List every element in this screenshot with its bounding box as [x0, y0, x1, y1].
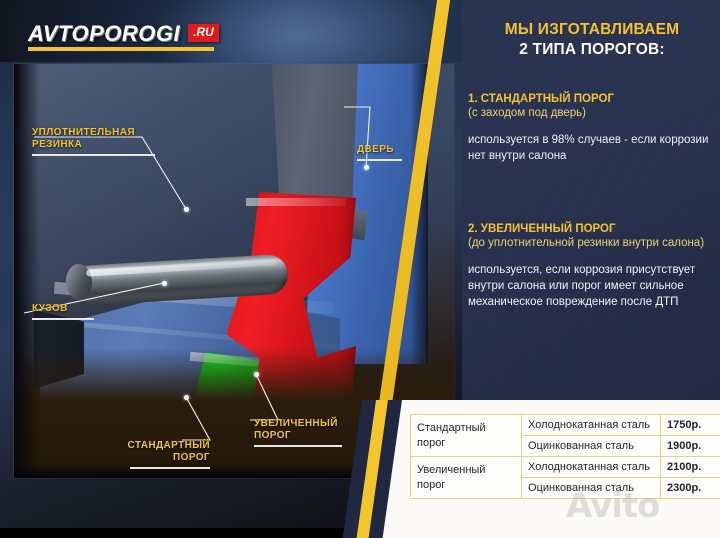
section-enlarged-heading: 2. УВЕЛИЧЕННЫЙ ПОРОГ: [468, 222, 712, 236]
label-door-rule: [357, 159, 402, 161]
label-standard-sill-line1: СТАНДАРТНЫЙ: [128, 440, 211, 451]
label-weather-seal-line2: РЕЗИНКА: [32, 139, 82, 150]
site-logo[interactable]: AVTOPOROGI .RU: [28, 22, 219, 52]
table-cell-material: Холоднокатанная сталь: [522, 415, 661, 436]
door-leader-dot: [364, 165, 369, 170]
label-enlarged-sill-line1: УВЕЛИЧЕННЫЙ: [254, 418, 338, 429]
infographic-poster: УПЛОТНИТЕЛЬНАЯ РЕЗИНКА КУЗОВ ДВЕРЬ СТАНД…: [0, 0, 720, 538]
panel-title: МЫ ИЗГОТАВЛИВАЕМ 2 ТИПА ПОРОГОВ:: [472, 20, 712, 60]
table-cell-price: 1750р.: [661, 415, 720, 436]
text-panel: [462, 0, 720, 400]
price-table: Стандартный порог Холоднокатанная сталь …: [410, 414, 720, 499]
table-cell-price: 2100р.: [661, 457, 720, 478]
price-table-zone: Стандартный порог Холоднокатанная сталь …: [380, 400, 720, 538]
table-cell-material: Оцинкованная сталь: [522, 436, 661, 457]
section-standard-heading: 1. СТАНДАРТНЫЙ ПОРОГ: [468, 92, 712, 106]
section-enlarged-subheading: (до уплотнительной резинки внутри салона…: [468, 236, 712, 250]
standard-leader-dot: [184, 395, 189, 400]
label-standard-sill: СТАНДАРТНЫЙ ПОРОГ: [76, 440, 210, 469]
label-enlarged-sill-rule: [254, 445, 342, 447]
table-cell-category: Стандартный порог: [411, 415, 522, 457]
logo-word-text: AVTOPOROGI: [28, 21, 180, 46]
section-standard-subheading: (с заходом под дверь): [468, 106, 712, 120]
section-enlarged: 2. УВЕЛИЧЕННЫЙ ПОРОГ (до уплотнительной …: [468, 222, 712, 310]
section-standard-body: используется в 98% случаев - если корроз…: [468, 132, 712, 164]
section-enlarged-body: используется, если коррозия присутствует…: [468, 262, 712, 310]
label-weather-seal-line1: УПЛОТНИТЕЛЬНАЯ: [32, 127, 135, 138]
panel-title-line2: 2 ТИПА ПОРОГОВ:: [472, 40, 712, 60]
table-cell-price: 1900р.: [661, 436, 720, 457]
seal-leader-dot: [184, 207, 189, 212]
label-door: ДВЕРЬ: [357, 144, 417, 161]
label-enlarged-sill: УВЕЛИЧЕННЫЙ ПОРОГ: [254, 418, 364, 447]
label-car-body-text: КУЗОВ: [32, 303, 68, 314]
table-cell-material: Оцинкованная сталь: [522, 478, 661, 499]
panel-diagonal-texture: [462, 0, 720, 400]
logo-wordmark: AVTOPOROGI: [28, 22, 180, 46]
label-car-body: КУЗОВ: [32, 303, 102, 320]
panel-title-line1: МЫ ИЗГОТАВЛИВАЕМ: [472, 20, 712, 40]
label-car-body-rule: [32, 318, 94, 320]
section-standard: 1. СТАНДАРТНЫЙ ПОРОГ (с заходом под двер…: [468, 92, 712, 164]
label-standard-sill-line2: ПОРОГ: [173, 452, 210, 463]
logo-underline: [28, 47, 214, 51]
logo-tld-badge: .RU: [188, 24, 219, 42]
table-cell-category: Увеличенный порог: [411, 457, 522, 499]
label-weather-seal-rule: [32, 154, 155, 156]
table-cell-material: Холоднокатанная сталь: [522, 457, 661, 478]
label-door-text: ДВЕРЬ: [357, 144, 394, 155]
enlarged-leader-dot: [254, 372, 259, 377]
table-row: Увеличенный порог Холоднокатанная сталь …: [411, 457, 720, 478]
table-cell-price: 2300р.: [661, 478, 720, 499]
table-row: Стандартный порог Холоднокатанная сталь …: [411, 415, 720, 436]
label-standard-sill-rule: [130, 467, 210, 469]
label-enlarged-sill-line2: ПОРОГ: [254, 430, 291, 441]
label-weather-seal: УПЛОТНИТЕЛЬНАЯ РЕЗИНКА: [32, 127, 162, 156]
body-leader-dot: [162, 281, 167, 286]
